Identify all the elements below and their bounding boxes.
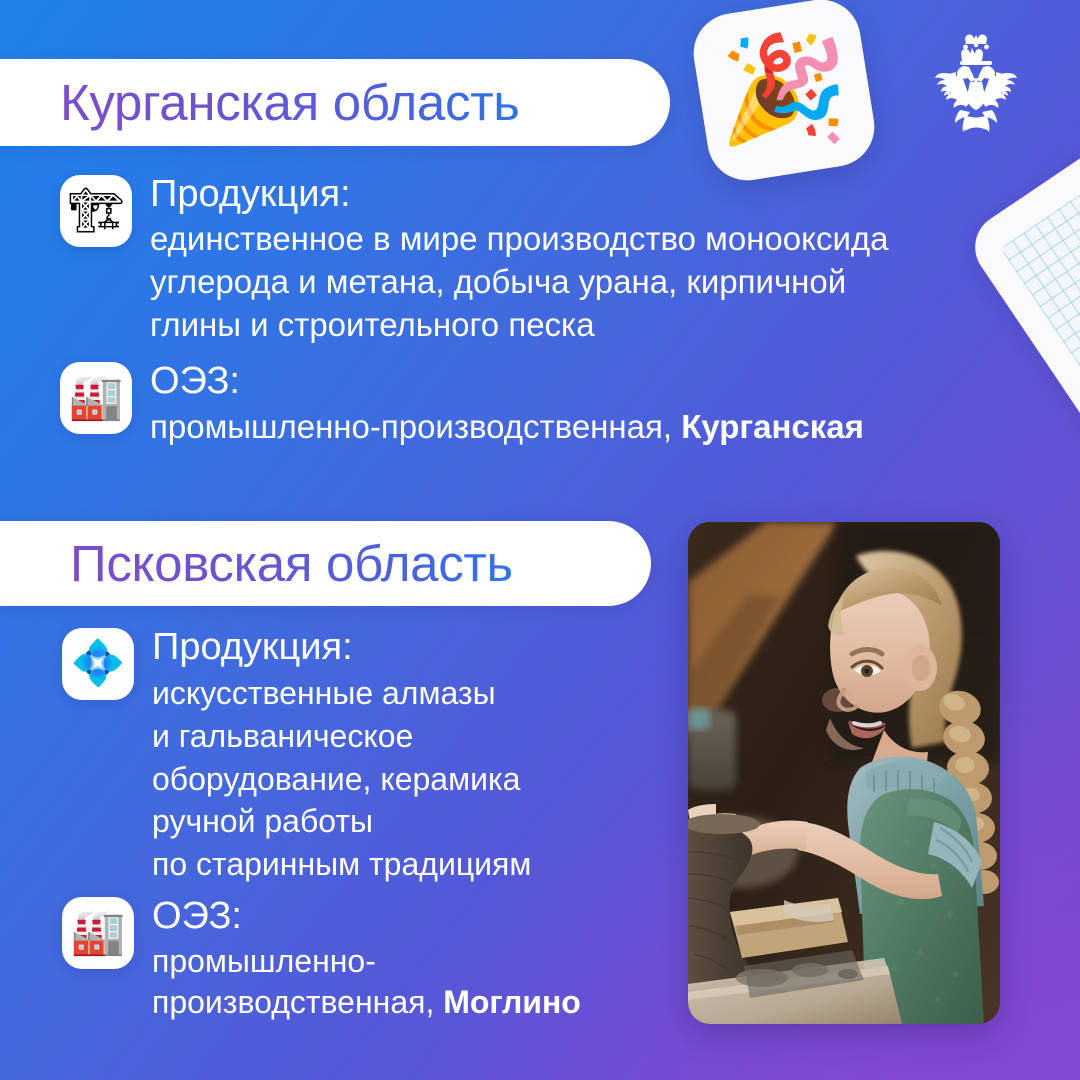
pottery-girl-photo (688, 522, 1000, 1024)
page-title-pskov: Псковская область (70, 534, 513, 593)
info-row-body: искусственные алмазы и гальваническое об… (152, 672, 531, 886)
info-row-body: промышленно-производственная, Курганская (150, 406, 864, 449)
sez-type-text: промышленно- производственная, (152, 943, 443, 1021)
section-title-pill-kurgan: Курганская область (0, 59, 670, 146)
info-row-kurgan-products: 🏗 Продукция: единственное в мире произво… (60, 175, 889, 346)
sez-name-text: Курганская (681, 408, 864, 445)
info-row-text: ОЭЗ: промышленно- производственная, Могл… (152, 897, 581, 1024)
info-row-label: Продукция: (152, 628, 531, 667)
construction-crane-icon: 🏗 (60, 175, 132, 247)
info-row-label: ОЭЗ: (150, 362, 864, 401)
info-row-body: единственное в мире производство моноокс… (150, 218, 889, 347)
info-row-label: ОЭЗ: (152, 897, 581, 936)
info-row-pskov-sez: 🏭 ОЭЗ: промышленно- производственная, Мо… (62, 897, 581, 1024)
infographic-canvas: 🎉 (0, 0, 1080, 1080)
info-row-pskov-products: 💠 Продукция: искусственные алмазы и галь… (62, 628, 531, 886)
info-row-label: Продукция: (150, 175, 889, 214)
double-headed-eagle-emblem (916, 32, 1036, 150)
sez-type-text: промышленно-производственная, (150, 408, 681, 445)
diamond-with-dot-icon: 💠 (62, 628, 134, 700)
section-title-pill-pskov: Псковская область (0, 521, 651, 606)
info-row-body: промышленно- производственная, Моглино (152, 941, 581, 1024)
party-popper-tile: 🎉 (688, 0, 880, 186)
sez-name-text: Моглино (443, 984, 581, 1020)
info-row-kurgan-sez: 🏭 ОЭЗ: промышленно-производственная, Кур… (60, 362, 864, 449)
factory-icon: 🏭 (60, 362, 132, 434)
info-row-text: ОЭЗ: промышленно-производственная, Курга… (150, 362, 864, 449)
info-row-text: Продукция: единственное в мире производс… (150, 175, 889, 346)
page-title-kurgan: Курганская область (60, 73, 520, 132)
info-row-text: Продукция: искусственные алмазы и гальва… (152, 628, 531, 886)
factory-icon: 🏭 (62, 897, 134, 969)
party-popper-icon: 🎉 (700, 6, 868, 174)
